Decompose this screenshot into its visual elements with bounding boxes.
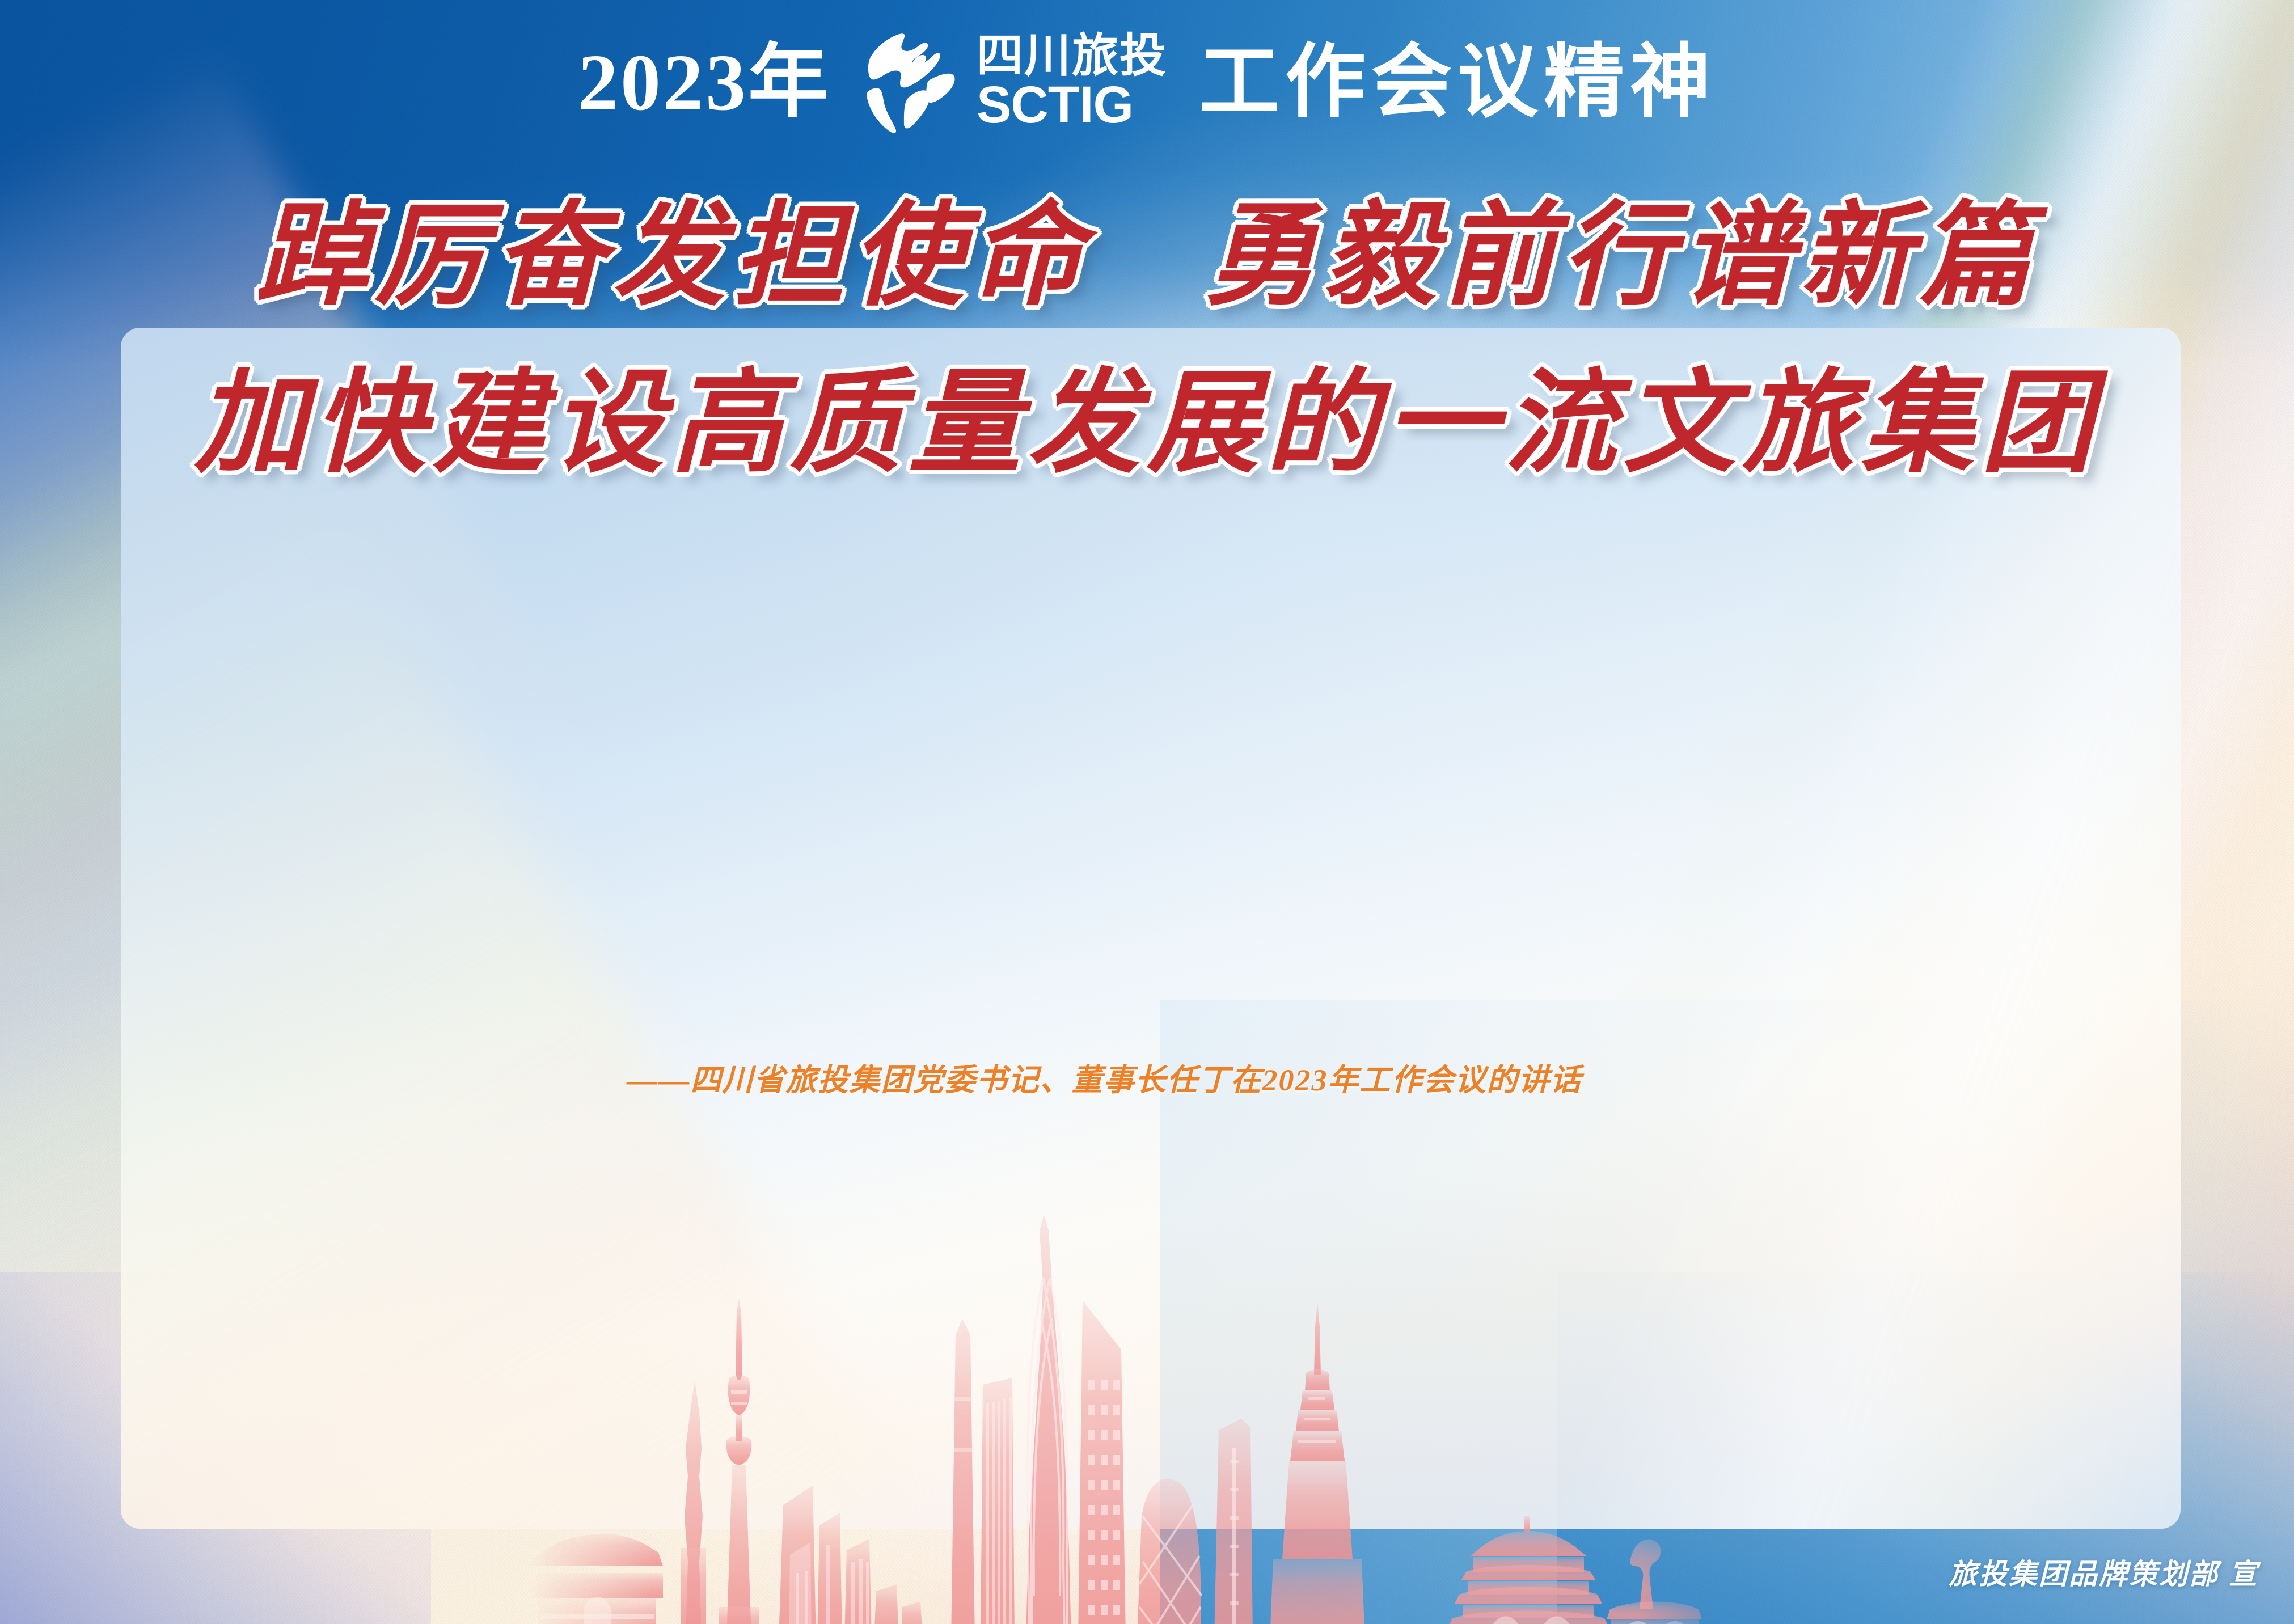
sctig-logo-text: 四川旅投 SCTIG <box>977 34 1167 130</box>
poster-header: 2023年 四川旅投 SCTIG 工作会议精神 <box>0 0 2294 295</box>
header-year-label: 2023年 <box>578 42 831 122</box>
sctig-globe-logo-icon <box>863 30 962 135</box>
footer-credit-block: 旅投集团品牌策划部 宣 <box>1949 1551 2259 1592</box>
header-subject-label: 工作会议精神 <box>1199 42 1716 122</box>
attribution-block: ——四川省旅投集团党委书记、董事长任丁在2023年工作会议的讲话 <box>0 1055 2294 1099</box>
footer-credit-text: 旅投集团品牌策划部 宣 <box>1949 1558 2259 1590</box>
headline-line-2: 加快建设高质量发展的一流文旅集团 <box>0 348 2294 500</box>
content-panel <box>121 328 2181 1529</box>
poster-canvas: 2023年 四川旅投 SCTIG 工作会议精神 <box>0 0 2294 1624</box>
sctig-logo-english-name: SCTIG <box>977 81 1133 130</box>
panel-left-sheen <box>121 496 958 1529</box>
panel-right-sheen <box>1508 328 2181 1529</box>
attribution-text: ——四川省旅投集团党委书记、董事长任丁在2023年工作会议的讲话 <box>627 1063 1582 1097</box>
sctig-logo-chinese-name: 四川旅投 <box>977 34 1167 78</box>
sctig-logo-lockup: 四川旅投 SCTIG <box>863 30 1167 135</box>
